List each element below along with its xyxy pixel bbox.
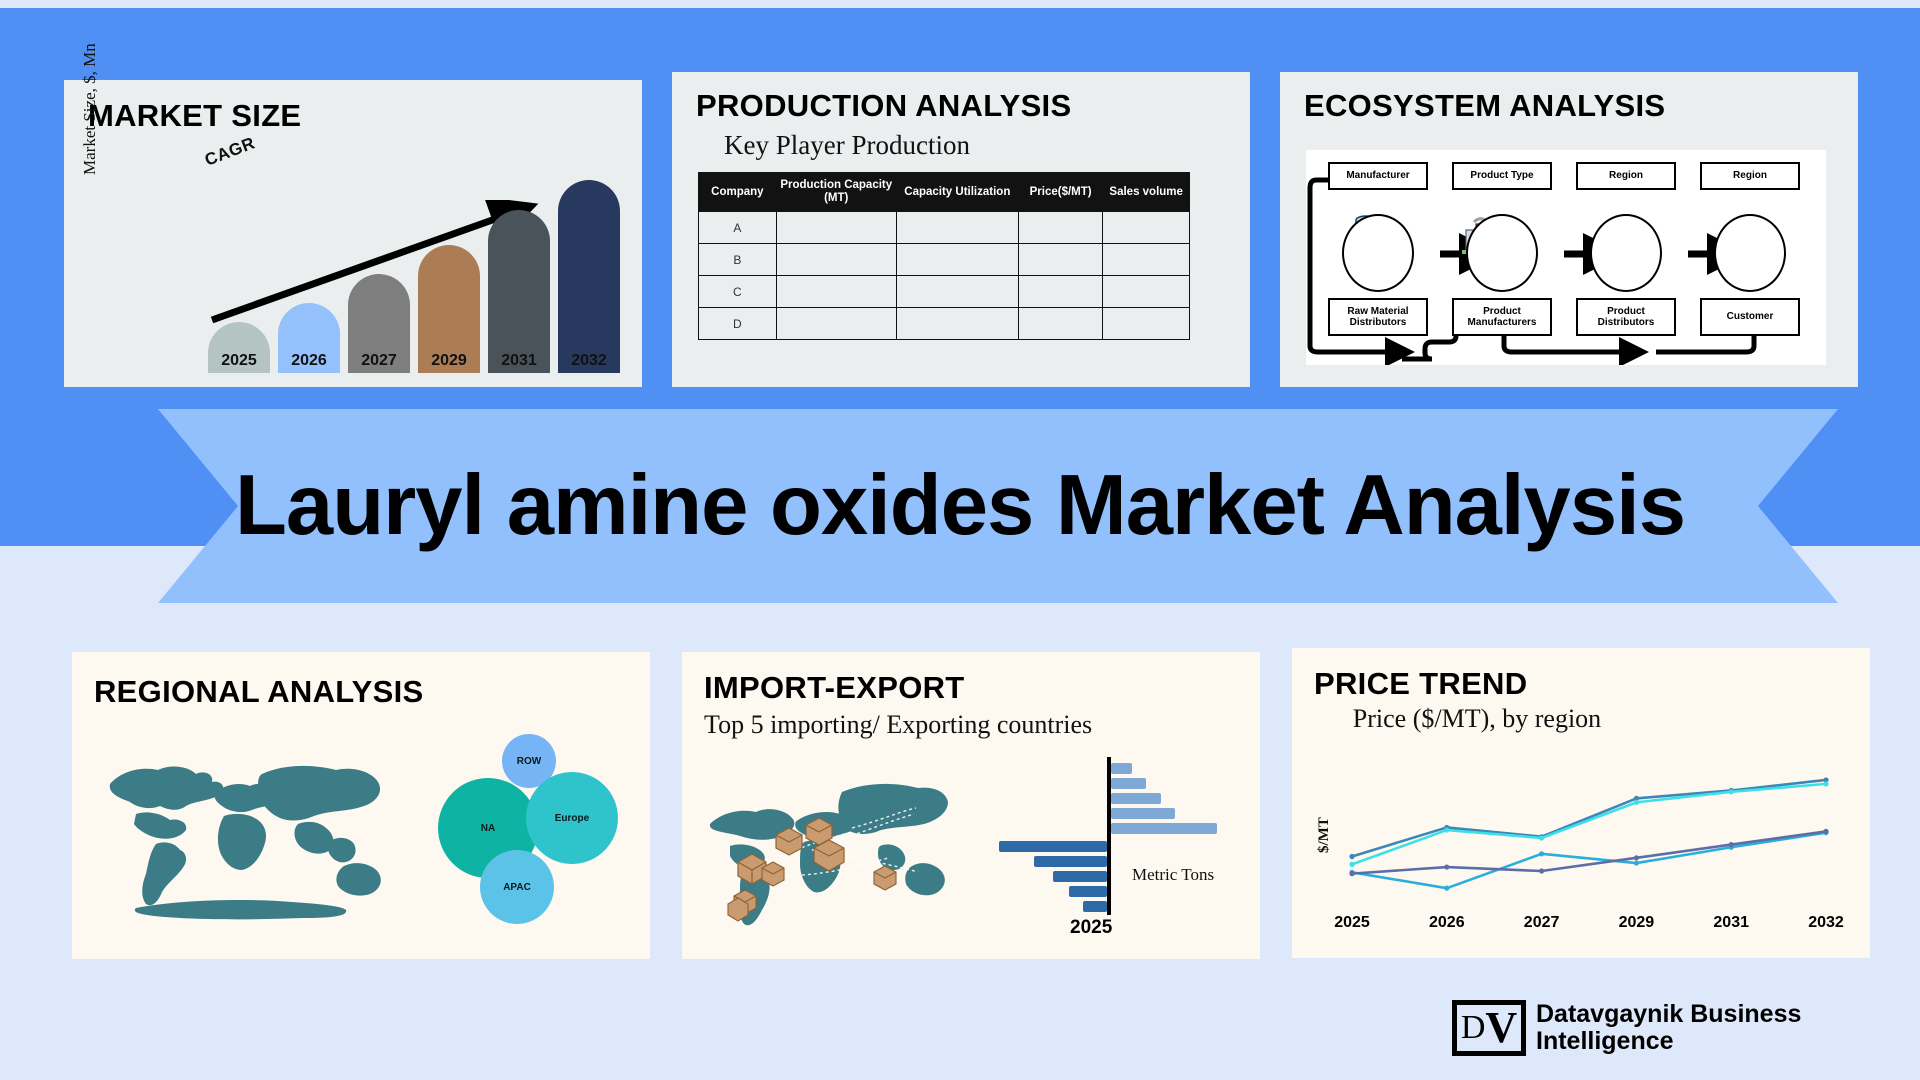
price-trend-data-point bbox=[1823, 829, 1828, 834]
table-row[interactable]: B bbox=[699, 244, 1190, 276]
trade-route-map-icon bbox=[702, 762, 972, 937]
ecosystem-diagram: Manufacturer Product Type Region Region … bbox=[1306, 150, 1826, 365]
eco-top-label-0: Manufacturer bbox=[1328, 162, 1428, 190]
market-size-title: MARKET SIZE bbox=[88, 98, 301, 134]
table-cell[interactable] bbox=[1103, 244, 1190, 276]
logo-line-1: Datavgaynik Business bbox=[1536, 1001, 1801, 1028]
price-trend-series-line bbox=[1352, 784, 1826, 865]
table-column-header: Price($/MT) bbox=[1018, 173, 1102, 212]
price-trend-y-axis-label: $/MT bbox=[1316, 817, 1333, 853]
factory-icon bbox=[1466, 214, 1538, 292]
market-size-bar-chart: 202520262027202920312032 bbox=[204, 163, 634, 373]
eco-top-label-3: Region bbox=[1700, 162, 1800, 190]
ecosystem-title: ECOSYSTEM ANALYSIS bbox=[1304, 88, 1665, 124]
eco-bottom-label-2: Product Distributors bbox=[1576, 298, 1676, 336]
price-trend-x-tick-label: 2025 bbox=[1334, 914, 1370, 932]
table-cell[interactable]: C bbox=[699, 276, 777, 308]
tornado-export-bar bbox=[1069, 886, 1107, 897]
price-trend-data-point bbox=[1444, 827, 1449, 832]
panel-price-trend: PRICE TREND Price ($/MT), by region $/MT… bbox=[1292, 648, 1870, 958]
price-trend-title: PRICE TREND bbox=[1314, 666, 1527, 702]
logo-letter-d: D bbox=[1461, 1011, 1486, 1045]
price-trend-data-point bbox=[1729, 842, 1734, 847]
price-trend-data-point bbox=[1634, 855, 1639, 860]
bubble-label-na: NA bbox=[481, 823, 495, 834]
table-cell[interactable] bbox=[1018, 244, 1102, 276]
tornado-export-bar bbox=[1053, 871, 1107, 882]
price-trend-data-point bbox=[1349, 862, 1354, 867]
price-trend-x-axis: 202520262027202920312032 bbox=[1334, 914, 1844, 936]
brand-logo: DV Datavgaynik Business Intelligence bbox=[1452, 992, 1852, 1064]
table-cell[interactable] bbox=[896, 244, 1018, 276]
table-cell[interactable]: A bbox=[699, 212, 777, 244]
table-column-header: Sales volume bbox=[1103, 173, 1190, 212]
panel-regional-analysis: REGIONAL ANALYSIS NA ROW bbox=[72, 652, 650, 959]
eco-bottom-label-0: Raw Material Distributors bbox=[1328, 298, 1428, 336]
production-subtitle: Key Player Production bbox=[724, 130, 970, 161]
price-trend-data-point bbox=[1823, 781, 1828, 786]
import-export-tornado-chart: Metric Tons 2025 bbox=[992, 757, 1222, 937]
table-cell[interactable] bbox=[776, 212, 896, 244]
price-trend-series-line bbox=[1352, 780, 1826, 857]
table-cell[interactable] bbox=[1103, 276, 1190, 308]
table-column-header: Capacity Utilization bbox=[896, 173, 1018, 212]
tornado-export-bar bbox=[1083, 901, 1107, 912]
price-trend-x-tick-label: 2031 bbox=[1713, 914, 1749, 932]
table-column-header: Production Capacity (MT) bbox=[776, 173, 896, 212]
table-cell[interactable]: B bbox=[699, 244, 777, 276]
price-trend-data-point bbox=[1349, 854, 1354, 859]
bubble-label-row: ROW bbox=[517, 756, 541, 767]
eco-top-label-2: Region bbox=[1576, 162, 1676, 190]
production-title: PRODUCTION ANALYSIS bbox=[696, 88, 1071, 124]
tornado-import-bar bbox=[1111, 808, 1175, 819]
table-cell[interactable] bbox=[1103, 212, 1190, 244]
table-header-row: CompanyProduction Capacity (MT)Capacity … bbox=[699, 173, 1190, 212]
tornado-year-label: 2025 bbox=[1070, 917, 1112, 939]
table-row[interactable]: C bbox=[699, 276, 1190, 308]
import-export-title: IMPORT-EXPORT bbox=[704, 670, 965, 706]
market-size-year-label: 2032 bbox=[558, 352, 620, 370]
table-cell[interactable] bbox=[776, 308, 896, 340]
eco-bottom-label-3: Customer bbox=[1700, 298, 1800, 336]
price-trend-data-point bbox=[1349, 871, 1354, 876]
table-cell[interactable] bbox=[1103, 308, 1190, 340]
panel-market-size: MARKET SIZE Market Size, $, Mn CAGR 2025… bbox=[64, 80, 642, 387]
price-trend-data-point bbox=[1539, 851, 1544, 856]
logo-line-2: Intelligence bbox=[1536, 1028, 1801, 1055]
market-size-year-label: 2031 bbox=[488, 352, 550, 370]
table-row[interactable]: D bbox=[699, 308, 1190, 340]
key-player-production-table: CompanyProduction Capacity (MT)Capacity … bbox=[698, 172, 1190, 340]
table-cell[interactable]: D bbox=[699, 308, 777, 340]
tornado-export-bar bbox=[1034, 856, 1107, 867]
bubble-apac: APAC bbox=[480, 850, 554, 924]
tornado-import-bar bbox=[1111, 823, 1217, 834]
logo-letter-v: V bbox=[1485, 1006, 1517, 1050]
price-trend-data-point bbox=[1444, 886, 1449, 891]
table-cell[interactable] bbox=[776, 244, 896, 276]
panel-ecosystem-analysis: ECOSYSTEM ANALYSIS bbox=[1280, 72, 1858, 387]
table-cell[interactable] bbox=[896, 276, 1018, 308]
market-size-year-label: 2025 bbox=[208, 352, 270, 370]
regional-title: REGIONAL ANALYSIS bbox=[94, 674, 424, 710]
table-cell[interactable] bbox=[896, 308, 1018, 340]
price-trend-x-tick-label: 2029 bbox=[1619, 914, 1655, 932]
table-cell[interactable] bbox=[896, 212, 1018, 244]
tornado-import-bar bbox=[1111, 763, 1132, 774]
customers-target-icon bbox=[1714, 214, 1786, 292]
table-cell[interactable] bbox=[776, 276, 896, 308]
price-trend-line-chart bbox=[1334, 768, 1844, 908]
page-title: Lauryl amine oxides Market Analysis bbox=[0, 409, 1920, 603]
table-row[interactable]: A bbox=[699, 212, 1190, 244]
tornado-export-bar bbox=[999, 841, 1107, 852]
bubble-europe: Europe bbox=[526, 772, 618, 864]
eco-bottom-label-1: Product Manufacturers bbox=[1452, 298, 1552, 336]
panel-import-export: IMPORT-EXPORT Top 5 importing/ Exporting… bbox=[682, 652, 1260, 959]
market-size-bar bbox=[488, 210, 550, 373]
eco-top-label-1: Product Type bbox=[1452, 162, 1552, 190]
tornado-metric-label: Metric Tons bbox=[1132, 865, 1214, 885]
price-trend-subtitle: Price ($/MT), by region bbox=[1352, 704, 1602, 734]
table-cell[interactable] bbox=[1018, 308, 1102, 340]
import-export-subtitle: Top 5 importing/ Exporting countries bbox=[704, 710, 1092, 740]
market-size-year-label: 2029 bbox=[418, 352, 480, 370]
price-trend-x-tick-label: 2026 bbox=[1429, 914, 1465, 932]
price-trend-data-point bbox=[1539, 835, 1544, 840]
market-size-y-axis-label: Market Size, $, Mn bbox=[80, 43, 100, 175]
price-trend-data-point bbox=[1729, 789, 1734, 794]
barrels-icon bbox=[1342, 214, 1414, 292]
tornado-import-bar bbox=[1111, 778, 1146, 789]
market-size-bar bbox=[558, 180, 620, 373]
table-column-header: Company bbox=[699, 173, 777, 212]
region-bubble-chart: NA ROW Europe APAC bbox=[438, 734, 618, 929]
world-map-icon bbox=[92, 740, 402, 930]
panel-production-analysis: PRODUCTION ANALYSIS Key Player Productio… bbox=[672, 72, 1250, 387]
bubble-label-apac: APAC bbox=[503, 882, 531, 893]
tornado-import-bar bbox=[1111, 793, 1161, 804]
price-trend-x-tick-label: 2027 bbox=[1524, 914, 1560, 932]
logo-mark-dv: DV bbox=[1452, 1000, 1526, 1056]
market-size-year-label: 2027 bbox=[348, 352, 410, 370]
price-trend-x-tick-label: 2032 bbox=[1808, 914, 1844, 932]
infographic-page: MARKET SIZE Market Size, $, Mn CAGR 2025… bbox=[0, 0, 1920, 1080]
bubble-label-europe: Europe bbox=[555, 813, 589, 824]
logo-wordmark: Datavgaynik Business Intelligence bbox=[1536, 1001, 1801, 1055]
price-trend-data-point bbox=[1634, 800, 1639, 805]
price-trend-data-point bbox=[1539, 868, 1544, 873]
table-cell[interactable] bbox=[1018, 212, 1102, 244]
distribution-network-icon bbox=[1590, 214, 1662, 292]
table-cell[interactable] bbox=[1018, 276, 1102, 308]
price-trend-data-point bbox=[1444, 864, 1449, 869]
market-size-year-label: 2026 bbox=[278, 352, 340, 370]
price-trend-data-point bbox=[1634, 860, 1639, 865]
